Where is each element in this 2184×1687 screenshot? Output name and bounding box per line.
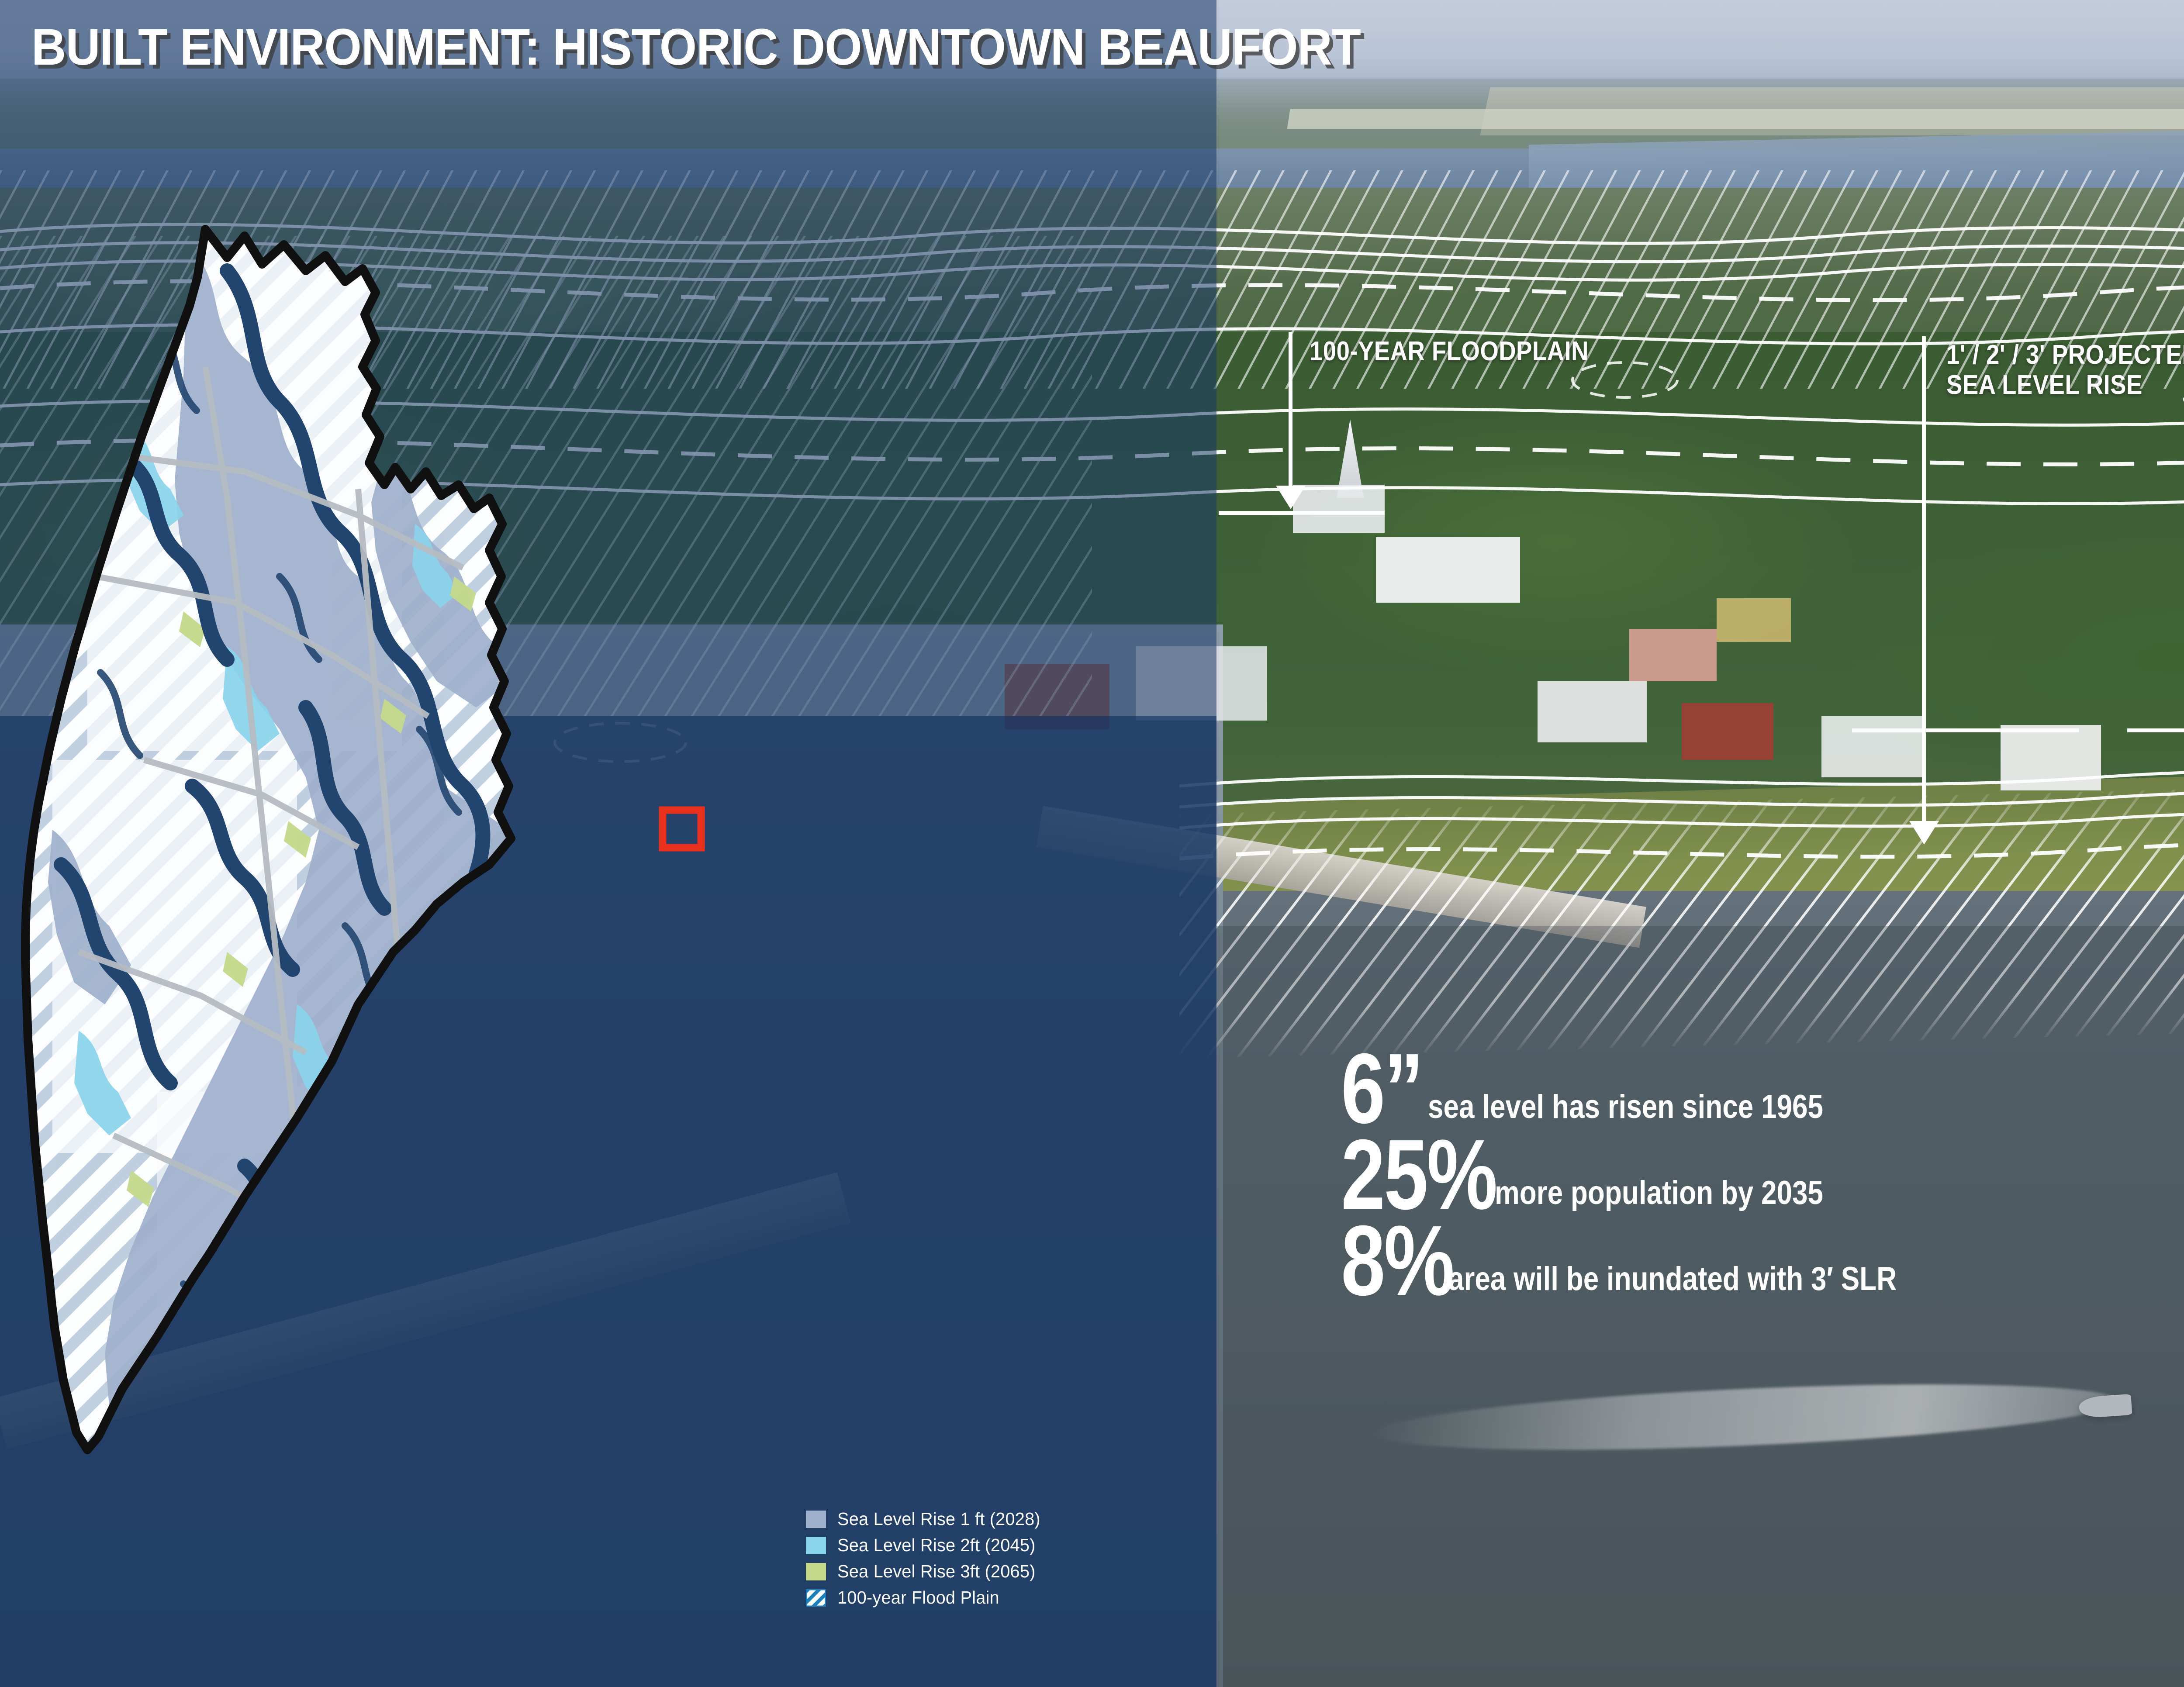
- legend-label-slr-3ft: Sea Level Rise 3ft (2065): [837, 1561, 1036, 1582]
- floodplain-leader-line: [1289, 332, 1292, 493]
- stat-caption-25-percent: more population by 2035: [1495, 1176, 1823, 1216]
- annotation-100-year-floodplain: 100-YEAR FLOODPLAIN: [1310, 336, 1589, 366]
- study-area-locator-box[interactable]: [663, 810, 701, 848]
- stat-value-25-percent: 25%: [1341, 1134, 1496, 1216]
- building: [2001, 725, 2101, 790]
- legend-item-slr-3ft[interactable]: Sea Level Rise 3ft (2065): [806, 1561, 1047, 1582]
- wetland-baseline: [2127, 728, 2184, 732]
- page-title: BUILT ENVIRONMENT: HISTORIC DOWNTOWN BEA…: [31, 17, 1361, 77]
- slr-leader-line: [1922, 336, 1926, 825]
- statistics-left-column: 6” sea level has risen since 1965 25% mo…: [1341, 1048, 2184, 1306]
- sea-level-rise-map[interactable]: [0, 183, 1216, 1494]
- map-legend: Sea Level Rise 1 ft (2028) Sea Level Ris…: [806, 1509, 1047, 1614]
- building: [1293, 485, 1385, 533]
- airfield-taxiway: [1287, 109, 2184, 129]
- legend-swatch-slr-1ft: [806, 1511, 826, 1528]
- hatched-square-icon: [806, 1589, 826, 1607]
- building-red-roof: [1682, 703, 1773, 760]
- legend-label-slr-2ft: Sea Level Rise 2ft (2045): [837, 1535, 1036, 1556]
- map-svg: [0, 183, 1216, 1494]
- building: [1538, 681, 1647, 742]
- legend-item-flood-plain[interactable]: 100-year Flood Plain: [806, 1587, 1047, 1608]
- floodplain-leader-arrow: [1276, 486, 1306, 509]
- slr-leader-arrow: [1909, 821, 1939, 845]
- infographic-poster: BUILT ENVIRONMENT: HISTORIC DOWNTOWN BEA…: [0, 0, 2184, 1687]
- stat-caption-8-percent: area will be inundated with 3′ SLR: [1448, 1263, 1897, 1302]
- annotation-projected-sea-level-rise: 1' / 2' / 3' PROJECTED SEA LEVEL RISE: [1946, 340, 2184, 400]
- building: [1821, 716, 1922, 777]
- legend-swatch-slr-2ft: [806, 1537, 826, 1554]
- stat-value-6-inches: 6”: [1341, 1048, 1422, 1130]
- legend-label-slr-1ft: Sea Level Rise 1 ft (2028): [837, 1509, 1040, 1529]
- building: [1717, 598, 1791, 642]
- legend-item-slr-1ft[interactable]: Sea Level Rise 1 ft (2028): [806, 1509, 1047, 1529]
- legend-label-flood-plain: 100-year Flood Plain: [837, 1587, 999, 1608]
- stat-area-inundated: 8% area will be inundated with 3′ SLR: [1341, 1220, 2184, 1302]
- building: [1376, 537, 1520, 603]
- slr-baseline: [1852, 728, 2079, 732]
- building: [1629, 629, 1717, 681]
- stat-sea-level-risen: 6” sea level has risen since 1965: [1341, 1048, 2184, 1130]
- stat-population-growth: 25% more population by 2035: [1341, 1134, 2184, 1216]
- legend-item-slr-2ft[interactable]: Sea Level Rise 2ft (2045): [806, 1535, 1047, 1556]
- floodplain-baseline: [1219, 511, 1385, 515]
- stat-value-8-percent: 8%: [1341, 1220, 1453, 1302]
- legend-swatch-flood-plain: [806, 1589, 826, 1607]
- legend-swatch-slr-3ft: [806, 1563, 826, 1580]
